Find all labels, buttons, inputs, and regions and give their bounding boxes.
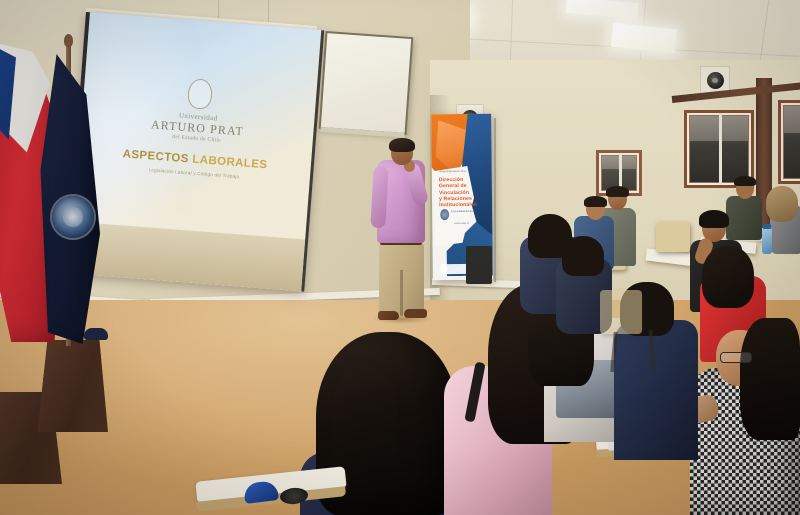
presenter-shoe-right <box>404 309 427 318</box>
water-bottle <box>762 228 772 254</box>
chair-back <box>600 290 642 334</box>
slide-content: Universidad ARTURO PRAT del Estado de Ch… <box>78 70 317 185</box>
banner-headline: Dirección General de Vinculación y Relac… <box>439 177 473 209</box>
banner-url: www.unap.cl <box>454 222 469 225</box>
window-right <box>778 100 800 184</box>
flag-finial-institutional <box>64 34 73 47</box>
presenter-leg-seam <box>400 270 403 316</box>
institutional-emblem-icon <box>52 196 94 238</box>
banner-crest-icon <box>440 209 449 220</box>
water-bottle-cap <box>763 224 771 229</box>
cap-on-flag-base <box>84 328 108 340</box>
slide-title-word2: LABORALES <box>192 154 268 172</box>
glasses-icon <box>720 352 752 363</box>
whiteboard <box>319 31 414 135</box>
projection-screen: Universidad ARTURO PRAT del Estado de Ch… <box>66 12 324 292</box>
banner-eyebrow: Universidad Arturo Prat <box>439 170 466 174</box>
slide-title-word1: ASPECTOS <box>122 148 189 165</box>
presenter-hair <box>389 138 415 152</box>
presenter-shoe-left <box>378 311 399 320</box>
banner-foot-base <box>466 246 492 284</box>
chair-back <box>656 222 690 252</box>
banner-support-pole <box>494 118 496 282</box>
banner-crest-label: Universidad Arturo Prat <box>451 210 478 214</box>
university-crest-icon <box>187 78 213 110</box>
classroom-photo: Universidad ARTURO PRAT del Estado de Ch… <box>0 0 800 515</box>
flag-stand-base-institutional <box>36 340 108 432</box>
